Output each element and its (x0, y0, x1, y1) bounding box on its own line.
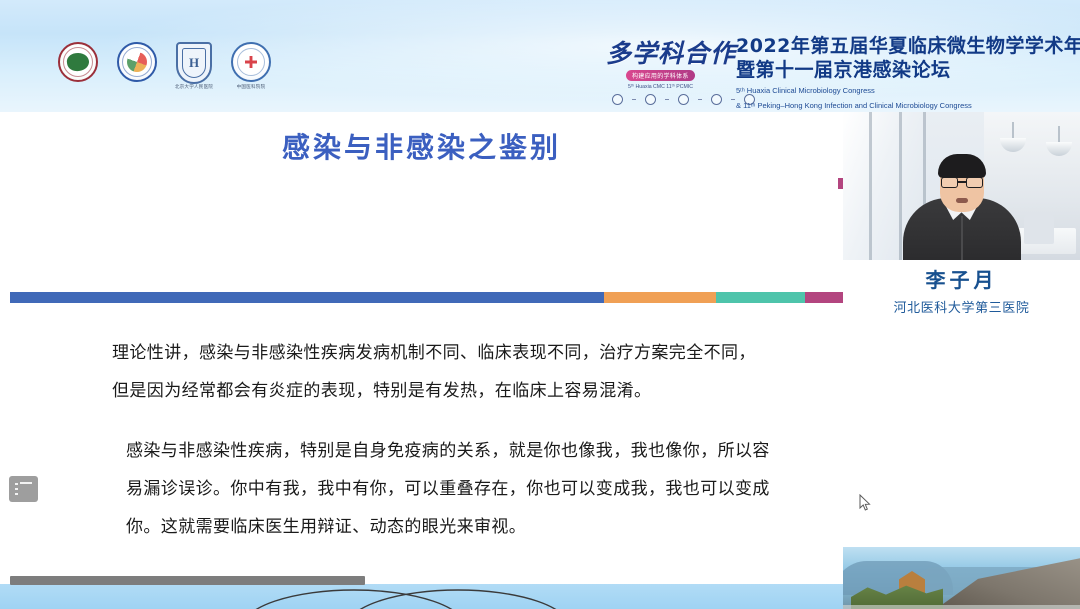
emblem-calligraphy: 多学科合作 (606, 34, 728, 70)
cpfd-logo-icon (58, 42, 98, 82)
list-outline-glyph (15, 482, 32, 496)
conference-title-block: 2022年第五届华夏临床微生物学学术年会 暨第十一届京港感染论坛 5ᵗʰ Hua… (736, 34, 1080, 111)
conference-title-cn-line1: 2022年第五届华夏临床微生物学学术年会 (736, 34, 1080, 58)
emblem-english-line: 5ᵗʰ Huaxia CMC 11ᵗʰ PCMIC (628, 84, 693, 90)
conference-title-en-line2: & 11ᵗʰ Peking–Hong Kong Infection and Cl… (736, 101, 1080, 112)
eyeglasses-bridge (958, 181, 966, 183)
microbe-icon (711, 94, 722, 105)
icon-divider (731, 99, 735, 100)
speaker-organization: 河北医科大学第三医院 (843, 297, 1080, 316)
speaker-mouth (956, 198, 968, 203)
china-pumch-logo-icon (231, 42, 271, 82)
icon-divider (665, 99, 669, 100)
slide-paragraph-1: 理论性讲，感染与非感染性疾病发病机制不同、临床表现不同，治疗方案完全不同，但是因… (112, 334, 772, 410)
speaker-zipper (961, 216, 963, 260)
flask-icon (678, 94, 689, 105)
window-mullion (869, 112, 872, 260)
organizer-logo-row: 北京大学人民医院 中国医科院院 (58, 42, 271, 84)
emblem-subtitle-pill: 构建应用的学科体系 (626, 70, 695, 81)
divider-segment-teal (716, 292, 805, 303)
speaker-figure (903, 156, 1021, 260)
speaker-panel: 李子月 河北医科大学第三医院 (843, 112, 1080, 609)
speaker-name: 李子月 (843, 264, 1080, 293)
speaker-video[interactable] (843, 112, 1080, 260)
conference-banner: 北京大学人民医院 中国医科院院 多学科合作 构建应用的学科体系 5ᵗʰ Huax… (0, 0, 1080, 112)
conference-emblem: 多学科合作 构建应用的学科体系 5ᵗʰ Huaxia CMC 11ᵗʰ PCMI… (604, 32, 730, 110)
presentation-viewer: 北京大学人民医院 中国医科院院 多学科合作 构建应用的学科体系 5ᵗʰ Huax… (0, 0, 1080, 609)
photo-bottom-strip (843, 605, 1080, 609)
microscope-icon (645, 94, 656, 105)
organizer-logo-2 (117, 42, 157, 82)
divider-segment-magenta (805, 292, 843, 303)
list-outline-icon[interactable] (9, 476, 38, 502)
venn-shapes (236, 589, 576, 609)
horizontal-scrollbar[interactable] (10, 576, 365, 585)
divider-segment-blue (10, 292, 604, 303)
conference-title-cn-line2: 暨第十一届京港感染论坛 (736, 58, 1080, 82)
eyeglasses-left-lens (941, 177, 958, 188)
pen-icon (612, 94, 623, 105)
organizer-logo-3-caption: 北京大学人民医院 (175, 84, 213, 90)
medical-association-logo-icon (117, 42, 157, 82)
divider-segment-orange (604, 292, 716, 303)
organizer-logo-4-caption: 中国医科院院 (237, 84, 266, 90)
mouse-cursor (859, 494, 871, 512)
great-wall-photo (843, 547, 1080, 609)
peking-university-peoples-hospital-logo-icon (176, 42, 212, 84)
slide-canvas[interactable]: 感染与非感染之鉴别 理论性讲，感染与非感染性疾病发病机制不同、临床表现不同，治疗… (0, 112, 843, 584)
eyeglasses-right-lens (966, 177, 983, 188)
chair (1024, 214, 1054, 244)
slide-divider-bar (10, 292, 843, 303)
organizer-logo-1 (58, 42, 98, 82)
speaker-caption: 李子月 河北医科大学第三医院 (843, 260, 1080, 316)
speaker-hair (938, 154, 986, 178)
organizer-logo-4: 中国医科院院 (231, 42, 271, 82)
venn-diagram: 感染 非感染 (236, 589, 576, 609)
slide-paragraph-2: 感染与非感染性疾病，特别是自身免疫病的关系，就是你也像我，我也像你，所以容易漏诊… (126, 432, 772, 546)
emblem-icon-strip (612, 94, 755, 105)
icon-divider (632, 99, 636, 100)
slide-title: 感染与非感染之鉴别 (0, 126, 843, 166)
organizer-logo-3: 北京大学人民医院 (176, 42, 212, 84)
slide-body: 理论性讲，感染与非感染性疾病发病机制不同、临床表现不同，治疗方案完全不同，但是因… (112, 334, 772, 546)
icon-divider (698, 99, 702, 100)
conference-title-en-line1: 5ᵗʰ Huaxia Clinical Microbiology Congres… (736, 86, 1080, 97)
